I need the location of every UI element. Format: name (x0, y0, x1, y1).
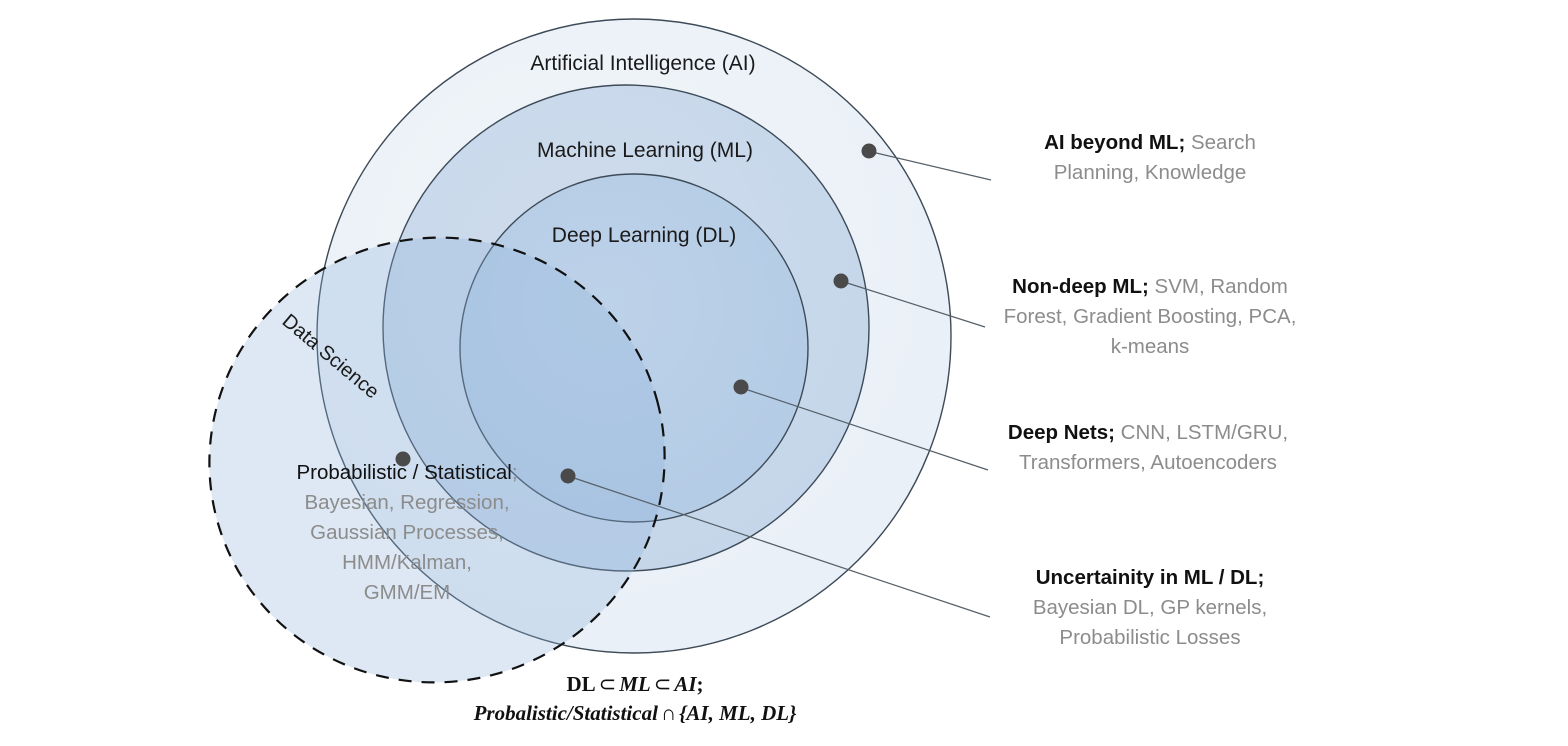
annotation-ai-beyond-ml: AI beyond ML; Search Planning, Knowledge (1000, 128, 1300, 188)
formula-line-1: DL⊂ML⊂AI; (355, 672, 915, 697)
annotation-head-uncertainty: Uncertainity in ML / DL; (1036, 566, 1265, 589)
probabilistic-line-2: Gaussian Processes, (257, 518, 557, 548)
diagram-canvas: Artificial Intelligence (AI) Machine Lea… (0, 0, 1568, 746)
probabilistic-head-row: Probabilistic / Statistical; (257, 458, 557, 488)
formula-intersect: ∩ (658, 701, 679, 725)
annotation-head-deep-nets: Deep Nets; (1008, 421, 1115, 444)
annotation-non-deep-ml: Non-deep ML; SVM, Random Forest, Gradien… (995, 272, 1305, 362)
label-ml: Machine Learning (ML) (537, 139, 753, 162)
annotation-body-uncertainty: Bayesian DL, GP kernels, Probabilistic L… (1033, 596, 1267, 649)
annotation-uncertainty: Uncertainity in ML / DL; Bayesian DL, GP… (995, 563, 1305, 653)
annotation-head-non-deep-ml: Non-deep ML; (1012, 275, 1149, 298)
formula-subset-1: ⊂ (596, 672, 620, 696)
formula-ai: AI (674, 672, 696, 696)
probabilistic-line-4: GMM/EM (257, 578, 557, 608)
formula-subset-2: ⊂ (651, 672, 675, 696)
label-dl: Deep Learning (DL) (552, 224, 736, 247)
label-ai: Artificial Intelligence (AI) (530, 52, 755, 75)
marker-dot-ai-beyond-ml (862, 144, 877, 159)
venn-diagram-svg: Artificial Intelligence (AI) Machine Lea… (0, 0, 1568, 746)
probabilistic-line-1: Bayesian, Regression, (257, 488, 557, 518)
formula-dl: DL (566, 672, 595, 696)
annotation-head-ai-beyond-ml: AI beyond ML; (1044, 131, 1185, 154)
marker-dot-uncertainty (561, 469, 576, 484)
formula-ml: ML (619, 672, 651, 696)
formula-semicolon: ; (697, 672, 704, 696)
probabilistic-line-3: HMM/Kalman, (257, 548, 557, 578)
formula-set: {AI, ML, DL} (679, 701, 796, 725)
probabilistic-semicolon: ; (512, 461, 518, 484)
annotation-probabilistic-statistical: Probabilistic / Statistical; Bayesian, R… (257, 458, 557, 608)
probabilistic-head: Probabilistic / Statistical (296, 461, 511, 484)
formula-prob-stat: Probalistic/Statistical (474, 701, 658, 725)
marker-dot-deep-nets (734, 380, 749, 395)
annotation-deep-nets: Deep Nets; CNN, LSTM/GRU, Transformers, … (993, 418, 1303, 478)
formula-line-2: Probalistic/Statistical∩{AI, ML, DL} (355, 701, 915, 726)
formula-block: DL⊂ML⊂AI; Probalistic/Statistical∩{AI, M… (355, 672, 915, 726)
marker-dot-non-deep-ml (834, 274, 849, 289)
